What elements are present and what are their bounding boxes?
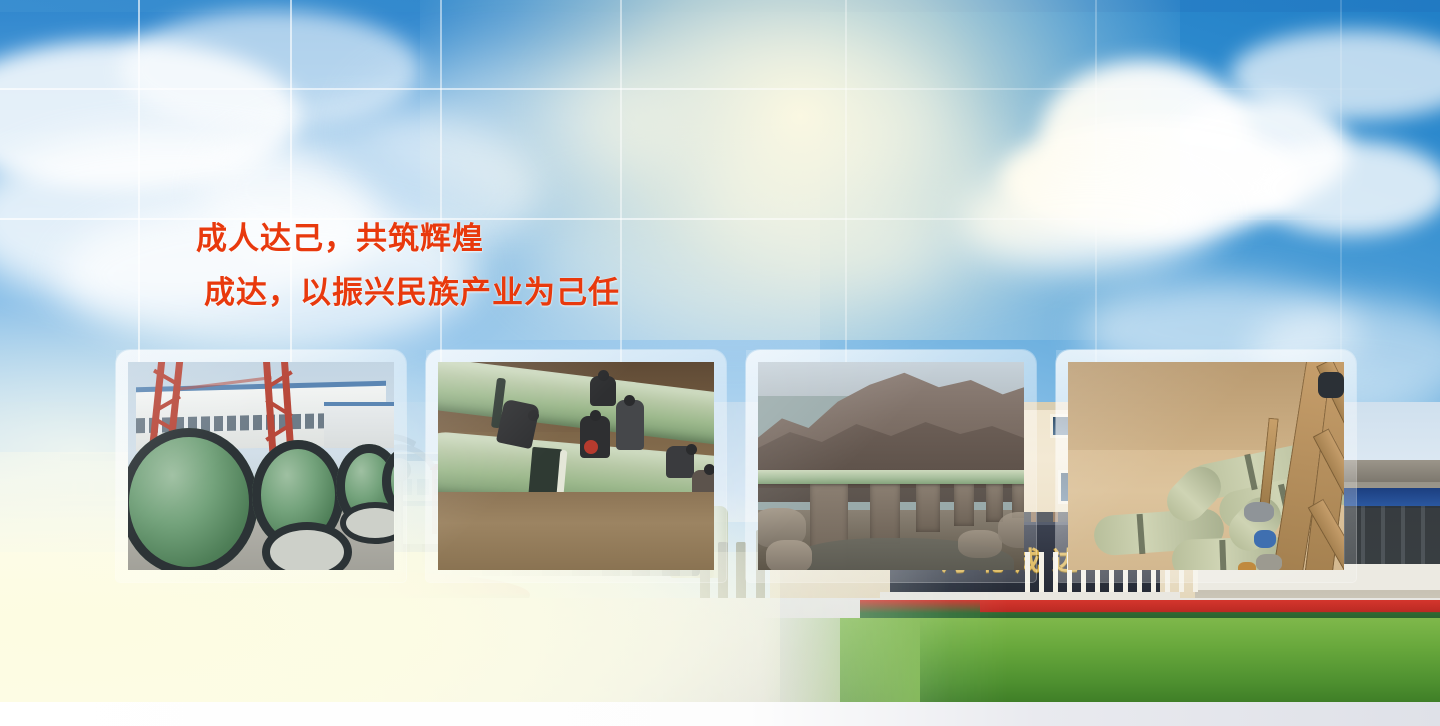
thumbnail-1-image	[128, 362, 394, 570]
worker-partial	[1318, 372, 1344, 398]
thumbnail-2[interactable]	[426, 350, 726, 582]
headline-line-2: 成达，以振兴民族产业为己任	[204, 278, 620, 309]
rock	[766, 540, 812, 570]
factory-hall-secondary	[324, 402, 394, 448]
worker-head	[598, 370, 609, 381]
footer-strip	[0, 702, 1440, 726]
worker	[616, 400, 644, 450]
worker-head	[590, 410, 601, 421]
hero-banner: 河北成达 成人达己，共筑辉煌 成达，以振兴民族产业为己任	[0, 0, 1440, 726]
rock	[998, 512, 1024, 548]
worker-head	[528, 410, 539, 421]
thumbnail-3[interactable]	[746, 350, 1036, 582]
rock	[958, 530, 1002, 558]
debris	[1244, 502, 1274, 522]
tool	[584, 440, 598, 454]
worker-head	[624, 395, 635, 406]
debris	[1238, 562, 1256, 570]
stone-pier	[954, 484, 974, 526]
elevated-pipeline	[758, 470, 1024, 484]
trench-floor	[438, 492, 714, 570]
debris	[1256, 554, 1282, 570]
stone-pier	[986, 484, 1003, 522]
debris	[1254, 530, 1276, 548]
thumbnail-2-image	[438, 362, 714, 570]
thumbnail-3-image	[758, 362, 1024, 570]
cloud-shape	[1250, 140, 1440, 235]
thumbnail-4-image	[1068, 362, 1344, 570]
headline-block: 成人达己，共筑辉煌 成达，以振兴民族产业为己任	[196, 224, 620, 309]
thumbnail-1[interactable]	[116, 350, 406, 582]
worker-head	[704, 464, 714, 475]
stone-pier	[870, 484, 900, 544]
headline-line-1: 成人达己，共筑辉煌	[196, 224, 620, 255]
stone-pier	[916, 484, 940, 532]
worker-head	[686, 444, 697, 455]
thumbnail-strip	[116, 350, 1356, 582]
thumbnail-4[interactable]	[1056, 350, 1356, 582]
